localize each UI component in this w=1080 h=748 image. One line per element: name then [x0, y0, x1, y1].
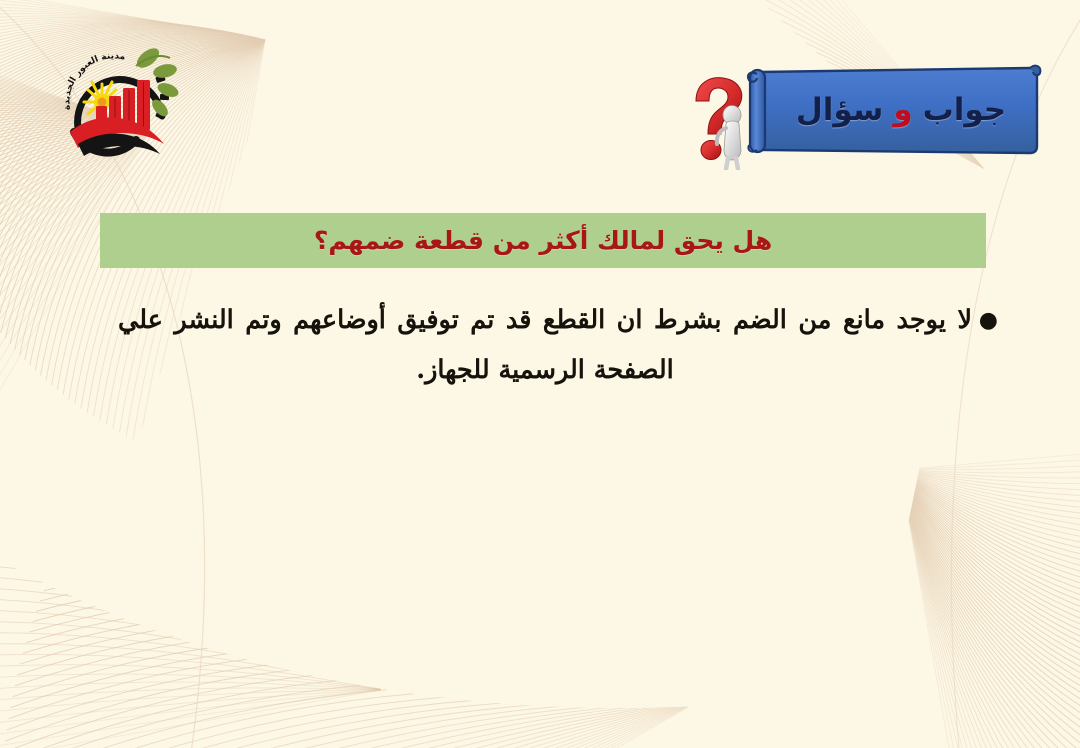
banner-title-conjunction: و: [893, 92, 912, 128]
question-text: هل يحق لمالك أكثر من قطعة ضمهم؟: [314, 226, 772, 255]
qa-title-banner: جواب و سؤال: [742, 62, 1044, 158]
bullet-icon: ●: [986, 310, 998, 332]
answer-text: لا يوجد مانع من الضم بشرط ان القطع قد تم…: [118, 296, 972, 395]
slide-canvas: مدينة العبور الجديدة: [0, 0, 1080, 748]
banner-title-prefix: سؤال: [796, 92, 883, 128]
banner-title-suffix: جواب: [923, 92, 1007, 128]
city-authority-logo: مدينة العبور الجديدة: [44, 32, 204, 172]
banner-title: جواب و سؤال: [770, 62, 1032, 158]
answer-block: ● لا يوجد مانع من الضم بشرط ان القطع قد …: [118, 296, 998, 395]
question-bar: هل يحق لمالك أكثر من قطعة ضمهم؟: [100, 213, 986, 268]
